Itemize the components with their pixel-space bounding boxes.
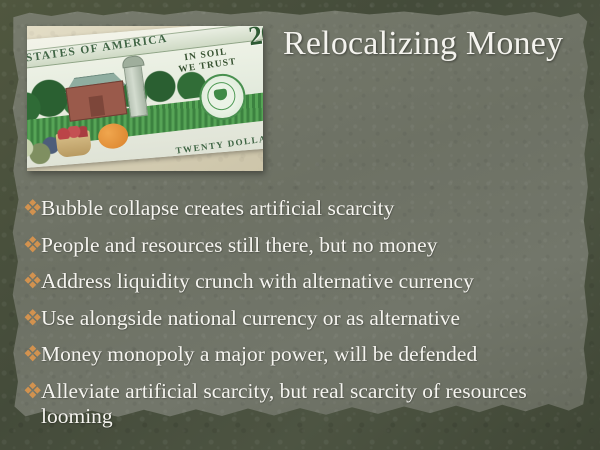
slide-title: Relocalizing Money xyxy=(283,22,583,66)
diamond-cluster-icon xyxy=(24,343,41,369)
money-bill-photo: D STATES OF AMERICA 20 IN SOIL WE TRUST … xyxy=(27,26,263,171)
barn-door-icon xyxy=(89,95,106,117)
bullet-item: Money monopoly a major power, will be de… xyxy=(24,342,580,369)
bullet-item: Alleviate artificial scarcity, but real … xyxy=(24,379,580,429)
bullet-list: Bubble collapse creates artificial scarc… xyxy=(24,196,580,438)
slide: D STATES OF AMERICA 20 IN SOIL WE TRUST … xyxy=(0,0,600,450)
diamond-cluster-icon xyxy=(24,197,41,223)
pumpkin-icon xyxy=(97,122,130,150)
bullet-text: Use alongside national currency or as al… xyxy=(41,306,580,331)
bullet-text: Bubble collapse creates artificial scarc… xyxy=(41,196,580,221)
bullet-item: People and resources still there, but no… xyxy=(24,233,580,260)
parody-twenty-dollar-bill: D STATES OF AMERICA 20 IN SOIL WE TRUST … xyxy=(27,26,263,169)
bullet-item: Use alongside national currency or as al… xyxy=(24,306,580,333)
diamond-cluster-icon xyxy=(24,234,41,260)
bullet-text: People and resources still there, but no… xyxy=(41,233,580,258)
bullet-item: Bubble collapse creates artificial scarc… xyxy=(24,196,580,223)
bullet-item: Address liquidity crunch with alternativ… xyxy=(24,269,580,296)
diamond-cluster-icon xyxy=(24,380,41,406)
bullet-text: Alleviate artificial scarcity, but real … xyxy=(41,379,580,429)
bullet-text: Money monopoly a major power, will be de… xyxy=(41,342,580,367)
diamond-cluster-icon xyxy=(24,307,41,333)
diamond-cluster-icon xyxy=(24,270,41,296)
bullet-text: Address liquidity crunch with alternativ… xyxy=(41,269,580,294)
